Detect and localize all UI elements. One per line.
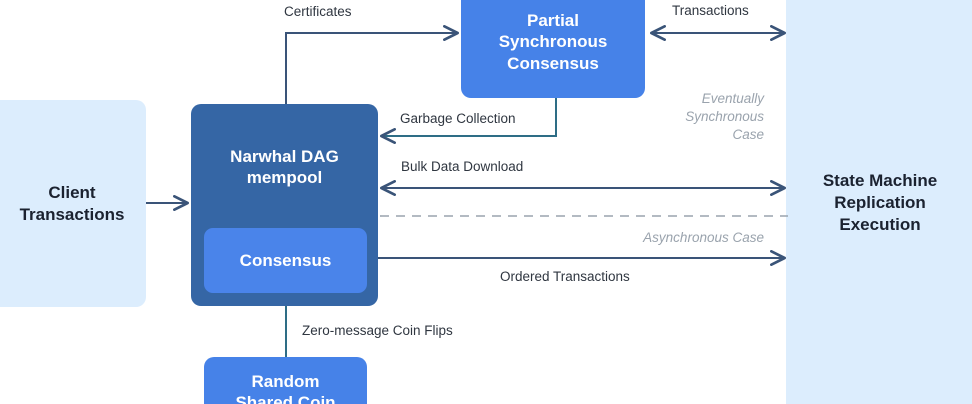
edge-label-transactions: Transactions <box>672 4 749 18</box>
edge-label-certificates: Certificates <box>284 5 352 19</box>
edge-label-bulk-data-download: Bulk Data Download <box>401 160 523 174</box>
node-state-machine-replication-execution: State Machine Replication Execution <box>800 160 960 246</box>
node-state-machine-label: State Machine Replication Execution <box>823 170 937 236</box>
edge-label-ordered-transactions: Ordered Transactions <box>500 270 630 284</box>
node-client-transactions-label: Client Transactions <box>8 182 125 225</box>
edge-certificates <box>286 33 457 104</box>
annotation-asynchronous-case: Asynchronous Case <box>600 229 764 247</box>
edge-label-garbage-collection: Garbage Collection <box>400 112 516 126</box>
diagram-canvas: Client Transactions Narwhal DAG mempool … <box>0 0 972 404</box>
node-narwhal-dag-mempool-label: Narwhal DAG mempool <box>230 146 339 189</box>
node-partial-synchronous-consensus[interactable]: Partial Synchronous Consensus <box>461 0 645 98</box>
node-random-shared-coin-label: Random Shared Coin <box>235 371 335 404</box>
node-consensus[interactable]: Consensus <box>204 228 367 293</box>
node-client-transactions[interactable]: Client Transactions <box>0 100 146 307</box>
node-consensus-label: Consensus <box>240 251 332 271</box>
edge-label-coin-flips: Zero-message Coin Flips <box>302 324 453 338</box>
node-random-shared-coin[interactable]: Random Shared Coin <box>204 357 367 404</box>
annotation-eventually-synchronous-case: Eventually Synchronous Case <box>630 90 764 143</box>
node-partial-synchronous-consensus-label: Partial Synchronous Consensus <box>499 10 608 74</box>
